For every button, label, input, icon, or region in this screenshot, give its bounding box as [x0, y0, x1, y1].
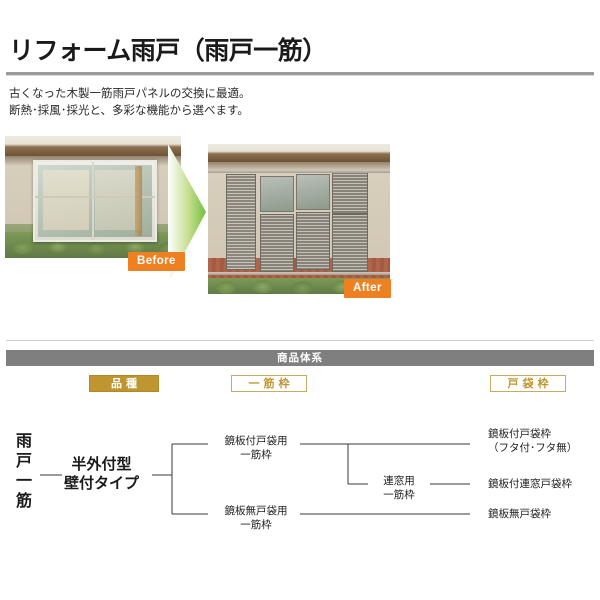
- before-after-comparison: [0, 132, 600, 307]
- tree-pocket-label-2: 鏡板付連窓戸袋枠: [488, 477, 572, 491]
- shutter-lower-rail: [208, 272, 390, 275]
- shutter-glass-panel-1: [260, 176, 294, 212]
- tree-frame-3-line-2: 一筋枠: [210, 518, 302, 532]
- shutter-louver-2: [296, 212, 330, 270]
- tree-frame-3-line-1: 鏡板無戸袋用: [210, 504, 302, 518]
- tree-pocket-2-line-1: 鏡板付連窓戸袋枠: [488, 477, 572, 491]
- description-line-2: 断熱･採風･採光と、多彩な機能から選べます。: [9, 103, 251, 120]
- page-title: リフォーム雨戸（雨戸一筋）: [9, 31, 327, 67]
- page-description: 古くなった木製一筋雨戸パネルの交換に最適。 断熱･採風･採光と、多彩な機能から選…: [9, 86, 251, 120]
- category-badge-hinshu: 品種: [89, 375, 159, 392]
- tree-frame-label-2: 連窓用 一筋枠: [366, 474, 432, 502]
- existing-window: [33, 160, 157, 242]
- tree-pocket-3-line-1: 鏡板無戸袋枠: [488, 507, 551, 521]
- category-badge-hitosujiwaku: 一筋枠: [231, 375, 307, 392]
- title-divider: [6, 72, 594, 75]
- house-eave: [5, 136, 181, 156]
- after-photo: [208, 144, 390, 294]
- tree-pocket-1-line-1: 鏡板付戸袋枠: [488, 427, 577, 441]
- shutter-louver-3: [332, 214, 368, 272]
- product-system-header: 商品体系: [6, 350, 594, 366]
- tree-pocket-label-3: 鏡板無戸袋枠: [488, 507, 551, 521]
- tree-frame-2-line-1: 連窓用: [366, 474, 432, 488]
- tree-frame-2-line-2: 一筋枠: [366, 488, 432, 502]
- shutter-glass-panel-2: [296, 174, 330, 210]
- shutter-pocket-panel: [226, 174, 256, 270]
- shutter-louver-top: [332, 170, 368, 214]
- before-photo: [5, 136, 181, 258]
- shutter-louver-1: [260, 214, 294, 272]
- wood-post: [135, 166, 142, 236]
- tree-frame-1-line-1: 鏡板付戸袋用: [210, 434, 302, 448]
- tree-pocket-1-line-2: （フタ付･フタ無）: [488, 441, 577, 455]
- window-mullion: [92, 162, 94, 240]
- tree-frame-label-1: 鏡板付戸袋用 一筋枠: [210, 434, 302, 462]
- before-label: Before: [128, 252, 185, 271]
- description-line-1: 古くなった木製一筋雨戸パネルの交換に最適。: [9, 86, 251, 103]
- tree-frame-label-3: 鏡板無戸袋用 一筋枠: [210, 504, 302, 532]
- category-badge-tobukurowaku: 戸袋枠: [490, 375, 566, 392]
- section-divider: [6, 340, 594, 341]
- house-eave: [208, 144, 390, 162]
- after-label: After: [344, 279, 391, 298]
- tree-frame-1-line-2: 一筋枠: [210, 448, 302, 462]
- tree-pocket-label-1: 鏡板付戸袋枠 （フタ付･フタ無）: [488, 427, 577, 455]
- shoji-panel-left: [43, 170, 89, 230]
- shutter-upper-rail: [208, 170, 390, 173]
